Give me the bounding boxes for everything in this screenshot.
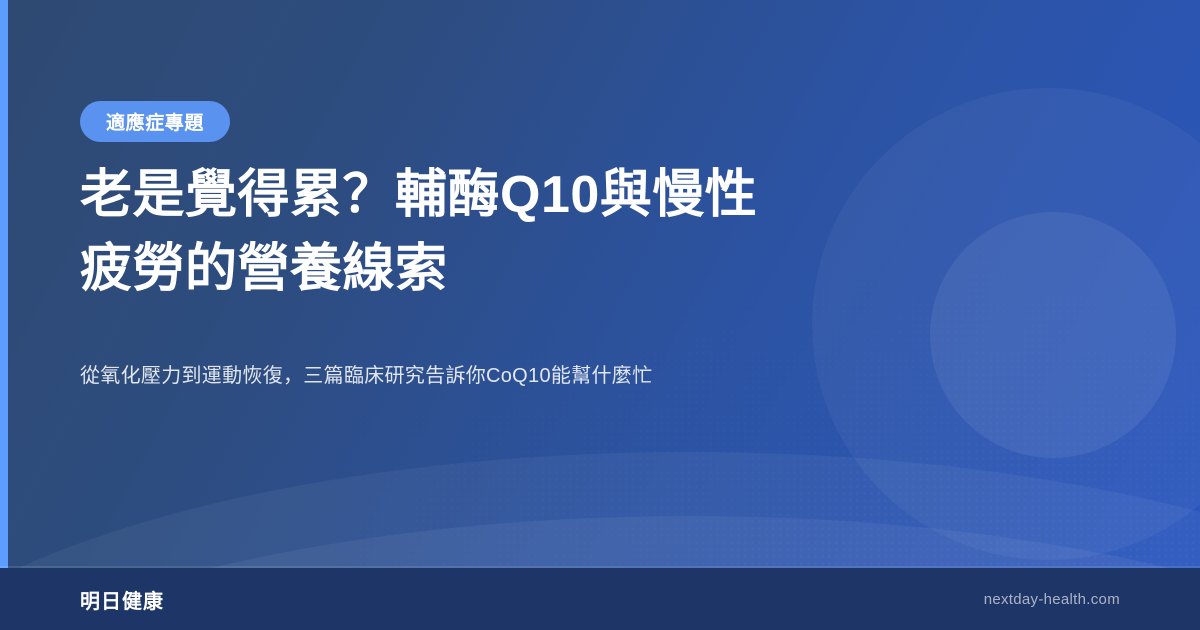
page-subtitle: 從氧化壓力到運動恢復，三篇臨床研究告訴你CoQ10能幫什麼忙 — [80, 360, 920, 392]
page-title-line-2: 疲勞的營養線索 — [80, 232, 870, 306]
footer: 明日健康 nextday-health.com — [80, 568, 1120, 630]
page-title-line-1: 老是覺得累？輔酶Q10與慢性 — [80, 158, 870, 232]
decorative-circle-outer — [812, 88, 1200, 560]
brand-name: 明日健康 — [80, 585, 164, 614]
decorative-circle-inner — [930, 212, 1176, 458]
background-decoration — [0, 0, 1200, 630]
left-accent-bar — [0, 0, 8, 568]
dot-texture-overlay — [0, 0, 1200, 630]
category-badge: 適應症專題 — [80, 101, 230, 142]
social-share-card: 適應症專題 老是覺得累？輔酶Q10與慢性 疲勞的營養線索 從氧化壓力到運動恢復，… — [0, 0, 1200, 630]
page-title: 老是覺得累？輔酶Q10與慢性 疲勞的營養線索 — [80, 158, 870, 306]
site-url: nextday-health.com — [984, 591, 1120, 608]
